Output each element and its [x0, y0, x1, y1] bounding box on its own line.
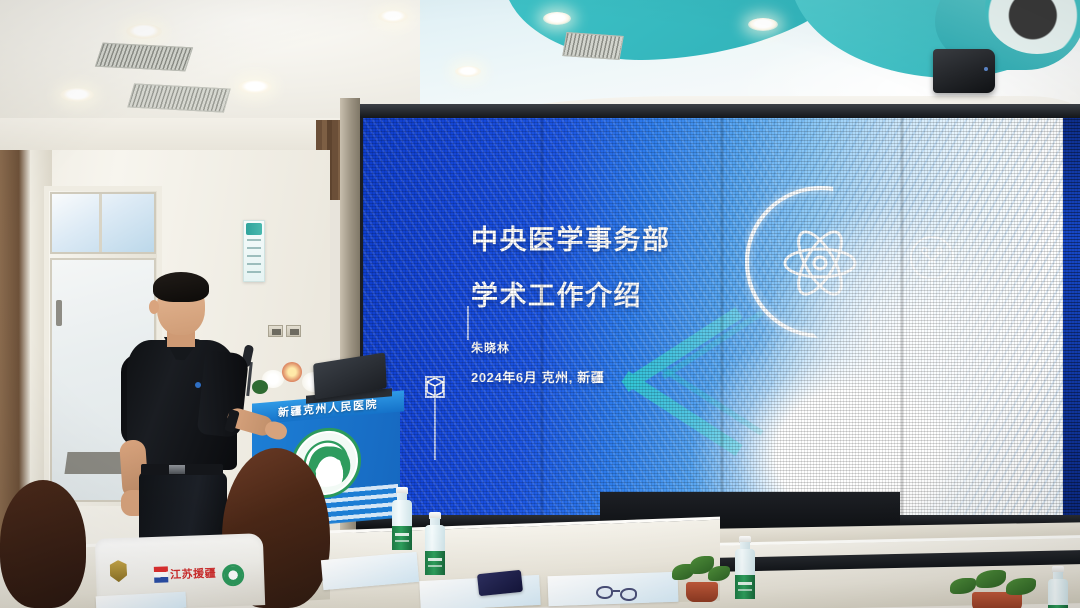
plant-leaf — [708, 566, 730, 581]
speaker-led-indicator — [984, 67, 988, 71]
ceiling-air-vent — [562, 32, 624, 60]
presenter-ear — [149, 300, 159, 314]
gold-crest-logo — [110, 560, 128, 583]
conference-photo-scene: 中央医学事务部 学术工作介绍 朱晓林 2024年6月 克州, 新疆 新疆克州人民… — [0, 0, 1080, 608]
ceiling-downlight — [455, 66, 481, 77]
potted-plant — [950, 570, 1042, 608]
wall-speaker — [933, 49, 995, 93]
ceiling-downlight — [126, 24, 162, 39]
slide-date-location: 2024年6月 克州, 新疆 — [471, 367, 891, 386]
led-panel-seam — [541, 118, 543, 516]
plant-pot — [686, 582, 718, 602]
eyeglasses-lens — [620, 588, 637, 601]
smartphone[interactable] — [477, 570, 523, 596]
flower-red — [282, 362, 302, 382]
tech-connector-line — [434, 398, 436, 460]
slide-presenter-name: 朱晓林 — [471, 339, 891, 356]
bottle-label — [735, 575, 755, 599]
audience-head-left — [0, 480, 86, 608]
ceiling-downlight — [378, 10, 408, 23]
bottle-body — [425, 525, 445, 573]
led-panel-seam — [901, 118, 903, 516]
tricolor-flag-logo — [154, 566, 169, 582]
bottle-body — [735, 549, 755, 597]
ceiling-air-vent — [95, 43, 193, 72]
ceiling-downlight — [238, 80, 272, 94]
ceiling-downlight — [60, 88, 94, 102]
transom-mullion — [99, 194, 102, 252]
green-circular-logo — [222, 564, 245, 587]
chair-cover-text: 江苏援疆 — [170, 565, 217, 583]
bottle-body — [1048, 579, 1068, 608]
ceiling-air-vent — [127, 83, 230, 112]
bottle-label — [392, 526, 412, 550]
plant-leaf — [1006, 578, 1036, 595]
led-panel-seam — [721, 118, 723, 516]
presenter-belt-buckle — [169, 465, 185, 474]
slide-title-line-1: 中央医学事务部 — [471, 226, 891, 256]
bottle-body — [392, 500, 412, 548]
led-wall-right-panel — [1063, 118, 1080, 516]
slide-text-block: 中央医学事务部 学术工作介绍 朱晓林 2024年6月 克州, 新疆 — [471, 226, 891, 386]
presenter-shirt-logo — [195, 382, 201, 388]
bottle-label — [425, 551, 445, 575]
tech-connector-line — [467, 306, 469, 340]
potted-plant — [670, 548, 732, 600]
plant-leaf — [976, 570, 1006, 588]
eyeglasses — [596, 586, 642, 602]
plant-leaf — [950, 578, 976, 594]
presentation-slide-screen[interactable]: 中央医学事务部 学术工作介绍 朱晓林 2024年6月 克州, 新疆 — [363, 118, 1080, 516]
tech-connector-line — [931, 280, 933, 342]
eyeglasses-bridge — [613, 590, 620, 592]
eyeglasses-lens — [596, 586, 613, 599]
led-wall-top-bezel — [356, 104, 1080, 118]
molecule-node-icon — [910, 236, 954, 280]
ceiling-downlight — [543, 12, 571, 25]
presenter-hair — [153, 272, 209, 302]
wall-power-socket[interactable] — [268, 325, 283, 337]
wall-power-socket[interactable] — [286, 325, 301, 337]
ceiling-downlight — [748, 18, 778, 31]
door-transom-window — [50, 192, 156, 254]
cube-icon — [425, 376, 445, 398]
direction-sign-header — [246, 223, 262, 235]
slide-title-line-2: 学术工作介绍 — [471, 282, 891, 312]
door-handle[interactable] — [56, 300, 62, 326]
